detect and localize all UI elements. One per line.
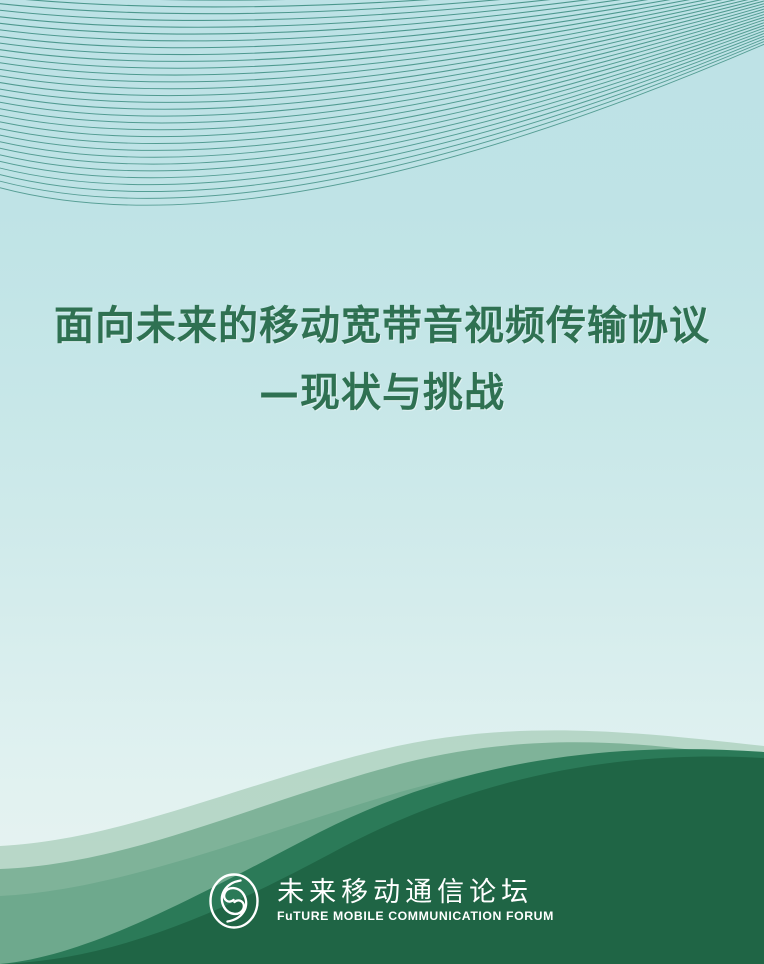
logo-chinese-name: 未来移动通信论坛 (277, 878, 533, 907)
page-title-line-1: 面向未来的移动宽带音视频传输协议 (0, 300, 764, 353)
wave-line-group (0, 0, 764, 205)
top-wave-line-decoration (0, 0, 764, 270)
wave-line (0, 11, 764, 129)
cover-title-block: 面向未来的移动宽带音视频传输协议 —现状与挑战 (0, 300, 764, 420)
organization-logo-lockup: 未来移动通信论坛 FuTURE MOBILE COMMUNICATION FOR… (0, 872, 764, 930)
wave-line (0, 0, 764, 7)
wave-line (0, 14, 764, 137)
wave-line (0, 0, 764, 61)
wave-line (0, 19, 764, 150)
wave-line (0, 37, 764, 198)
wave-line (0, 0, 764, 34)
wave-line (0, 0, 764, 96)
wave-line (0, 0, 764, 48)
logo-english-name: FuTURE MOBILE COMMUNICATION FORUM (277, 910, 554, 924)
wave-line (0, 0, 764, 75)
wave-line (0, 0, 764, 55)
wave-line (0, 22, 764, 157)
wave-line (0, 17, 764, 144)
mountain-layer-dark (0, 756, 764, 964)
mountain-layer-mid (0, 749, 764, 964)
wave-line (0, 9, 764, 123)
wave-line (0, 0, 764, 82)
wave-line (0, 0, 764, 41)
wave-line (0, 0, 764, 89)
logo-wordmark: 未来移动通信论坛 FuTURE MOBILE COMMUNICATION FOR… (277, 878, 557, 924)
wave-line (0, 0, 764, 20)
wave-line (0, 40, 764, 205)
wave-line (0, 32, 764, 184)
wave-line (0, 35, 764, 192)
wave-line (0, 0, 764, 27)
document-cover-page: 面向未来的移动宽带音视频传输协议 —现状与挑战 未来移动通信论坛 FuTURE … (0, 0, 764, 964)
mountain-layer-light-overlap (0, 764, 764, 964)
wave-line (0, 4, 764, 110)
wave-line (0, 27, 764, 171)
wave-line (0, 30, 764, 178)
page-title-line-2: —现状与挑战 (0, 367, 764, 420)
wave-line (0, 0, 764, 14)
wave-line (0, 6, 764, 116)
wave-line (0, 1, 764, 103)
forum-swirl-emblem-icon (207, 872, 261, 930)
wave-line (0, 0, 764, 68)
wave-line (0, 24, 764, 164)
mountain-layer-light (0, 742, 764, 964)
